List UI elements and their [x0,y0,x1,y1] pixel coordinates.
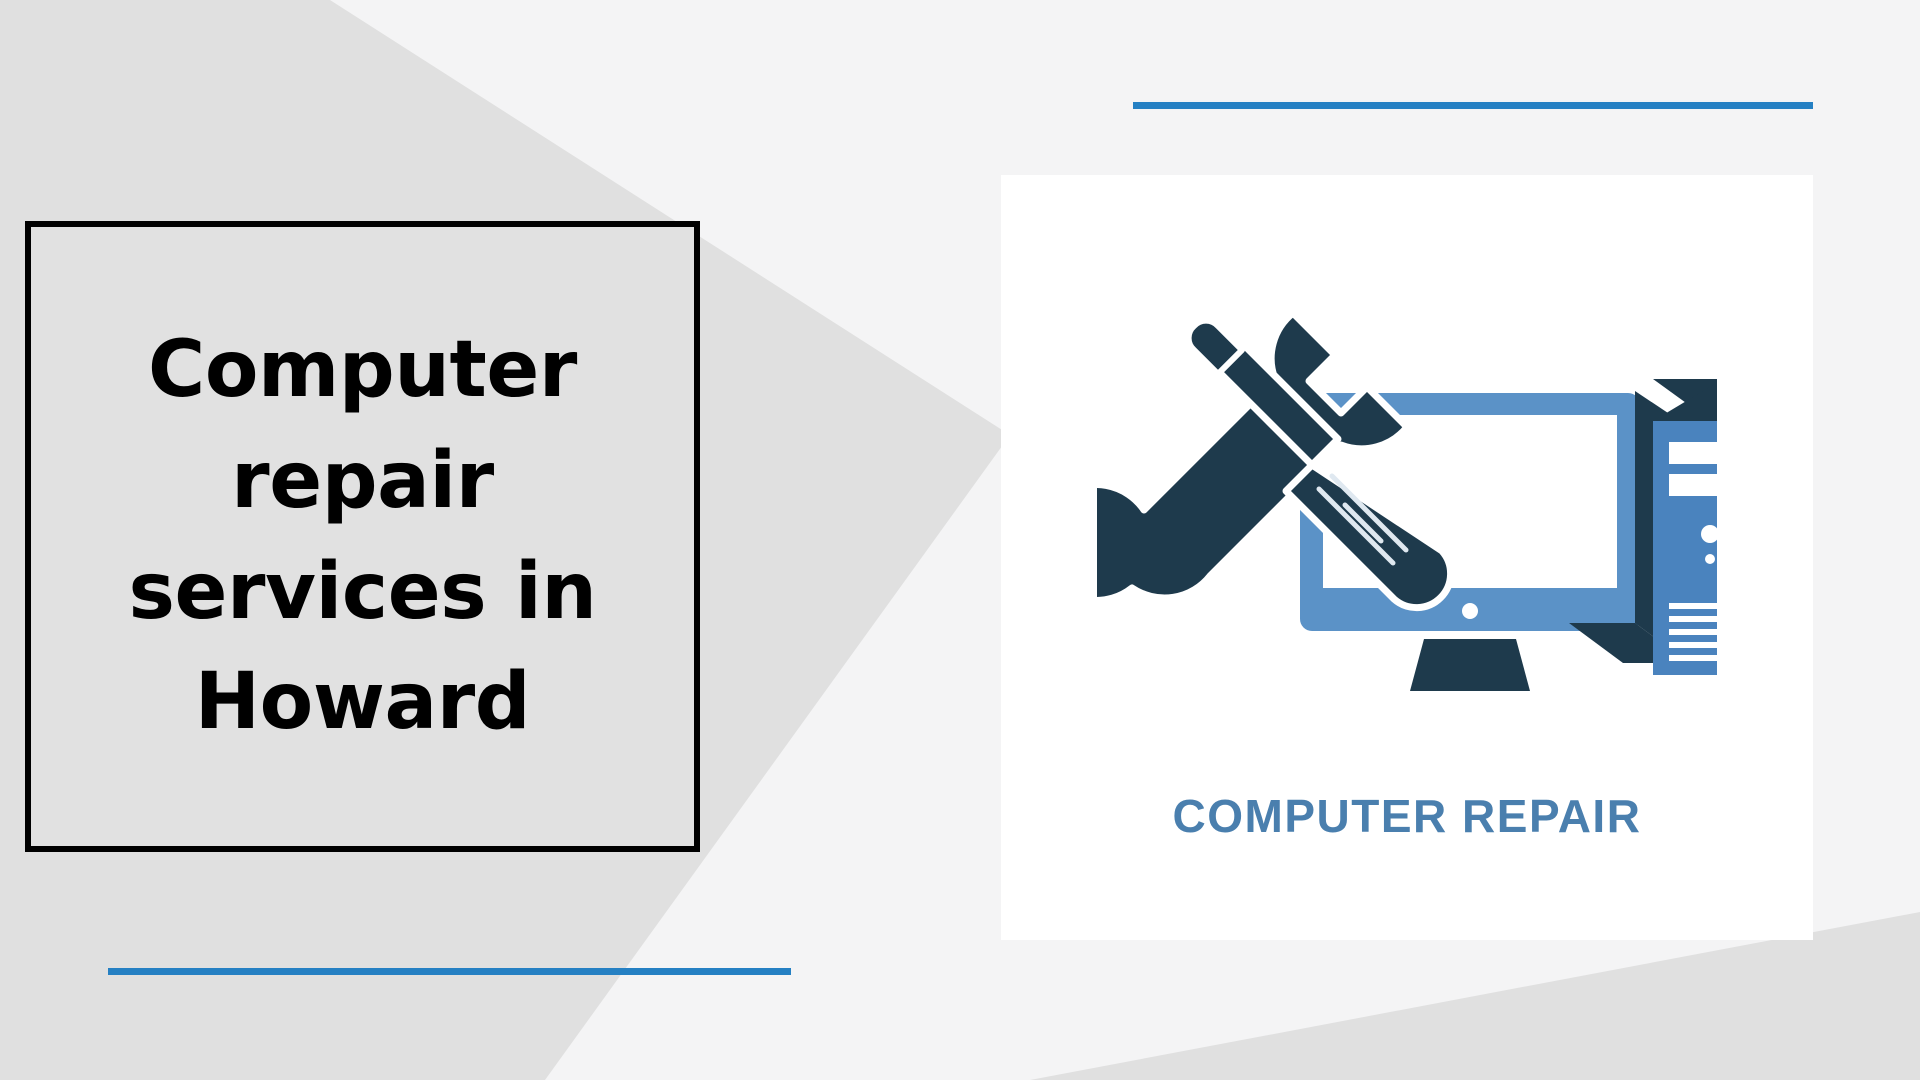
monitor-neck [1410,639,1530,691]
icon-caption: COMPUTER REPAIR [1173,789,1642,843]
tower-vent-3 [1669,629,1717,635]
tower-led [1705,554,1715,564]
monitor-power-dot [1462,603,1478,619]
computer-repair-icon [1097,293,1717,693]
accent-rule-bottom-left [108,968,791,975]
tower-vent-1 [1669,603,1717,609]
accent-rule-top-right [1133,102,1813,109]
tower-vent-2 [1669,616,1717,622]
tower-vent-5 [1669,655,1717,661]
slide-canvas: Computer repair services in Howard [0,0,1920,1080]
tower-drive-bay-1 [1669,442,1717,464]
image-card: COMPUTER REPAIR [1001,175,1813,940]
title-box: Computer repair services in Howard [25,221,700,852]
page-title: Computer repair services in Howard [77,315,648,758]
tower-drive-bay-2 [1669,474,1717,496]
tower-vent-4 [1669,642,1717,648]
